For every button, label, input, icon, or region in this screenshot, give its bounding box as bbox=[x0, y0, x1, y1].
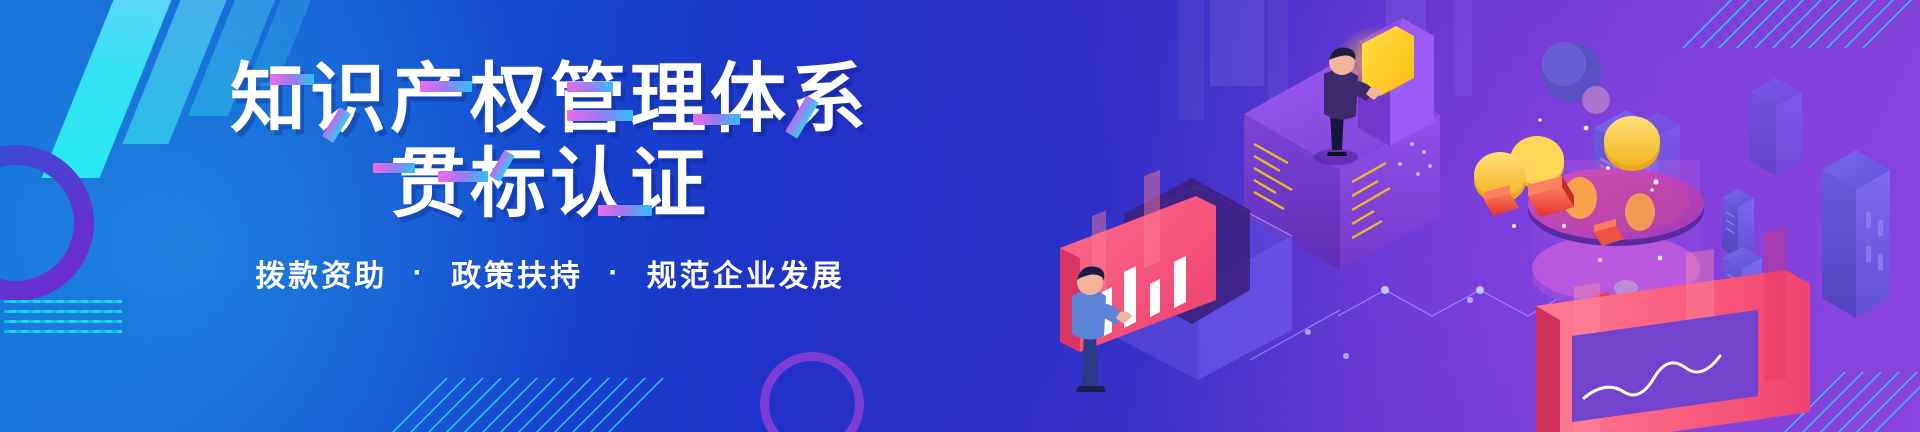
banner-subtitle: 拨款资助 · 政策扶持 · 规范企业发展 bbox=[0, 251, 1100, 295]
subtitle-part-2: 政策扶持 bbox=[451, 260, 583, 293]
banner-title-line-2: 贯标认证 bbox=[0, 145, 1100, 226]
subtitle-separator: · bbox=[413, 256, 426, 290]
building-small bbox=[1722, 189, 1754, 258]
banner-title-line-1: 知识产权管理体系 bbox=[0, 60, 1100, 141]
subtitle-separator: · bbox=[608, 256, 621, 290]
promotional-banner: 知识产权管理体系 贯标认证 拨款资助 · 政策扶持 · 规范企业发展 bbox=[0, 0, 1920, 432]
banner-subtitle-full: 拨款资助 · 政策扶持 · 规范企业发展 bbox=[0, 0, 1, 1]
cyan-hatch-bottom-left bbox=[440, 378, 670, 432]
subtitle-part-3: 规范企业发展 bbox=[647, 260, 845, 293]
building-tall bbox=[1822, 150, 1890, 318]
banner-text-block: 知识产权管理体系 贯标认证 拨款资助 · 政策扶持 · 规范企业发展 bbox=[0, 60, 1100, 295]
accent-dots bbox=[1305, 297, 1473, 359]
banner-title-line-2-text: 贯标认证 bbox=[390, 142, 710, 227]
cyan-dot-grid-decoration bbox=[4, 300, 122, 340]
purple-circle-outline-icon bbox=[760, 352, 864, 432]
building bbox=[1750, 78, 1802, 176]
banner-title-line-1-text: 知识产权管理体系 bbox=[230, 57, 870, 142]
isometric-illustration bbox=[1040, 0, 1920, 432]
subtitle-part-1: 拨款资助 bbox=[255, 260, 387, 293]
